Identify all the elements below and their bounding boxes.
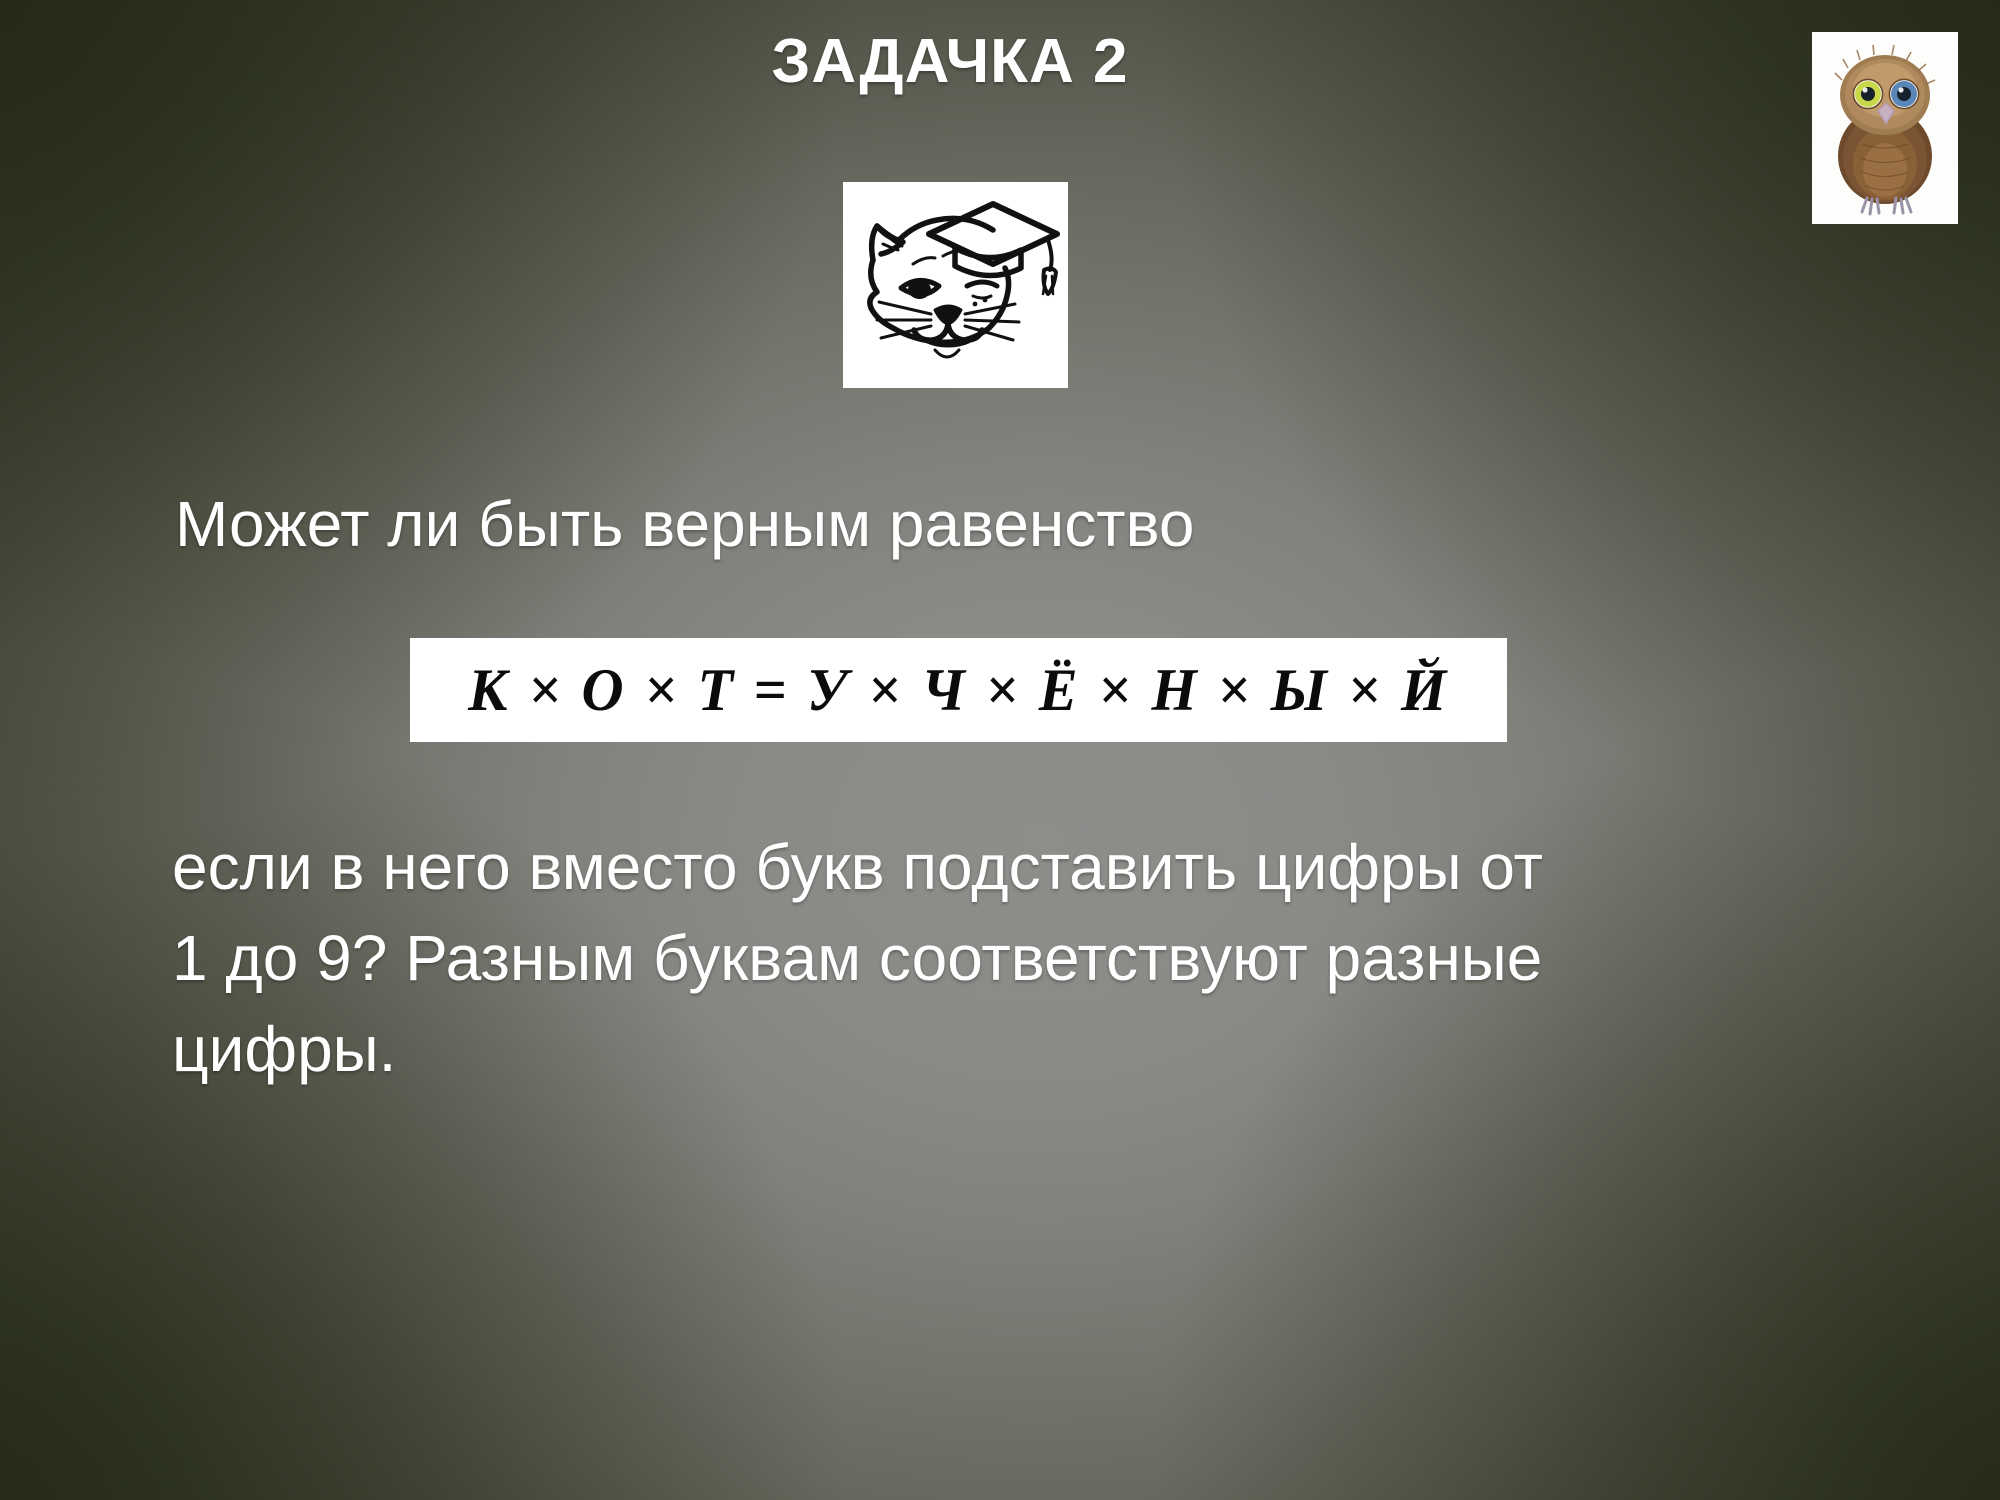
cat-graduate-icon xyxy=(843,182,1068,388)
slide-canvas: ЗАДАЧКА 2 xyxy=(0,0,2000,1500)
owl-illustration xyxy=(1812,32,1958,224)
owl-icon xyxy=(1812,32,1958,224)
page-title: ЗАДАЧКА 2 xyxy=(0,26,1900,97)
question-text: Может ли быть верным равенство xyxy=(175,487,1815,563)
paragraph-line-2: 1 до 9? Разным буквам соответствуют разн… xyxy=(172,913,1932,1004)
formula-text: К × О × Т = У × Ч × Ё × Н × Ы × Й xyxy=(468,656,1449,725)
paragraph-line-3: цифры. xyxy=(172,1004,1932,1095)
formula-image: К × О × Т = У × Ч × Ё × Н × Ы × Й xyxy=(410,638,1507,742)
condition-paragraph: если в него вместо букв подставить цифры… xyxy=(172,822,1932,1095)
cat-graduate-illustration xyxy=(843,182,1068,388)
paragraph-line-1: если в него вместо букв подставить цифры… xyxy=(172,822,1932,913)
